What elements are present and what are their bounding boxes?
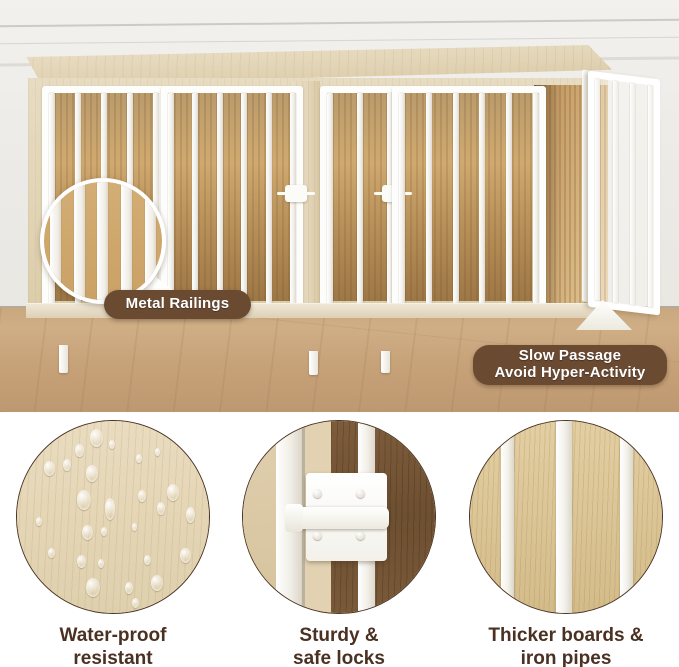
water-droplet bbox=[136, 454, 142, 463]
water-droplet bbox=[157, 502, 165, 515]
railing-bar bbox=[50, 182, 61, 300]
feature-safe-locks: Sturdy & safe locks bbox=[226, 420, 452, 667]
feature-image-water-proof bbox=[16, 420, 210, 614]
water-droplet bbox=[138, 490, 146, 502]
latch-screw bbox=[356, 489, 365, 498]
railing-bar bbox=[74, 182, 85, 300]
water-droplet bbox=[180, 548, 191, 563]
railing-bar bbox=[595, 78, 600, 301]
railing-bar bbox=[613, 81, 618, 304]
railing-bar bbox=[192, 93, 198, 308]
callout-metal-railings: Metal Railings bbox=[104, 290, 251, 319]
railing-bar bbox=[426, 93, 432, 308]
water-droplet bbox=[48, 548, 55, 558]
magnifier-detail-circle bbox=[40, 178, 166, 304]
water-droplet bbox=[90, 429, 103, 447]
feature-caption: Thicker boards & iron pipes bbox=[453, 624, 679, 667]
water-droplet bbox=[75, 444, 84, 457]
water-droplet bbox=[132, 598, 139, 608]
railing-bar bbox=[168, 93, 174, 308]
railing-bar bbox=[145, 182, 156, 300]
feature-caption: Water-proof resistant bbox=[0, 624, 226, 667]
railing-bar bbox=[121, 182, 132, 300]
iron-pipe bbox=[501, 421, 514, 613]
callout-label-line1: Slow Passage bbox=[519, 348, 621, 365]
crate-door-panel[interactable] bbox=[392, 86, 546, 315]
crate-door-panel[interactable] bbox=[320, 86, 400, 315]
metal-railing-bars bbox=[399, 93, 539, 308]
callout-label: Metal Railings bbox=[126, 296, 230, 313]
caption-line-2: iron pipes bbox=[453, 647, 679, 667]
caption-line-1: Water-proof bbox=[0, 624, 226, 647]
railing-bar bbox=[399, 93, 405, 308]
slide-bolt-knob bbox=[285, 504, 302, 533]
railing-bar bbox=[533, 93, 539, 308]
caption-line-1: Sturdy & bbox=[226, 624, 452, 647]
latch-screw bbox=[313, 489, 322, 498]
callout-label-line2: Avoid Hyper-Activity bbox=[495, 365, 646, 382]
railing-bar bbox=[648, 85, 653, 308]
crate-leg bbox=[59, 345, 68, 373]
wall-molding-line bbox=[0, 37, 679, 45]
water-droplet bbox=[144, 555, 151, 565]
water-droplet bbox=[125, 582, 133, 594]
magnified-railing-bars bbox=[44, 182, 162, 300]
crate-open-door[interactable] bbox=[588, 71, 660, 316]
railing-bar bbox=[357, 93, 363, 308]
feature-thicker-boards: Thicker boards & iron pipes bbox=[453, 420, 679, 667]
caption-line-1: Thicker boards & bbox=[453, 624, 679, 647]
iron-pipe bbox=[556, 421, 572, 613]
railing-bar bbox=[97, 182, 108, 300]
metal-railing-bars bbox=[168, 93, 296, 308]
railing-bar bbox=[506, 93, 512, 308]
feature-highlights-row: Water-proof resistant bbox=[0, 412, 679, 667]
metal-railing-bars bbox=[595, 78, 653, 307]
light-wood-edge bbox=[243, 421, 278, 613]
feature-image-thicker-boards bbox=[469, 420, 663, 614]
wall-molding-line bbox=[0, 19, 679, 28]
water-droplet bbox=[167, 484, 179, 501]
water-droplet bbox=[77, 555, 86, 568]
slide-bolt-bar bbox=[289, 507, 389, 528]
feature-image-safe-locks bbox=[242, 420, 436, 614]
hero-product-photo: Metal Railings Slow Passage Avoid Hyper-… bbox=[0, 0, 679, 412]
crate-door-panel[interactable] bbox=[161, 86, 303, 315]
railing-bar bbox=[453, 93, 459, 308]
product-feature-image: Metal Railings Slow Passage Avoid Hyper-… bbox=[0, 0, 679, 667]
water-droplet bbox=[77, 490, 91, 510]
railing-bar bbox=[479, 93, 485, 308]
railing-bar bbox=[266, 93, 272, 308]
latch-screw bbox=[356, 531, 365, 540]
water-droplet bbox=[98, 559, 104, 568]
latch-screw bbox=[313, 531, 322, 540]
caption-line-2: safe locks bbox=[226, 647, 452, 667]
crate-leg bbox=[381, 351, 390, 373]
door-latch[interactable] bbox=[285, 185, 307, 202]
railing-bar bbox=[241, 93, 247, 308]
iron-pipe bbox=[620, 421, 633, 613]
water-droplet bbox=[82, 525, 93, 540]
caption-line-2: resistant bbox=[0, 647, 226, 667]
railing-bar bbox=[630, 83, 635, 306]
railing-bar bbox=[327, 93, 333, 308]
feature-caption: Sturdy & safe locks bbox=[226, 624, 452, 667]
crate-leg bbox=[309, 351, 318, 375]
railing-bar bbox=[217, 93, 223, 308]
feature-water-proof: Water-proof resistant bbox=[0, 420, 226, 667]
callout-slow-passage: Slow Passage Avoid Hyper-Activity bbox=[473, 345, 667, 385]
